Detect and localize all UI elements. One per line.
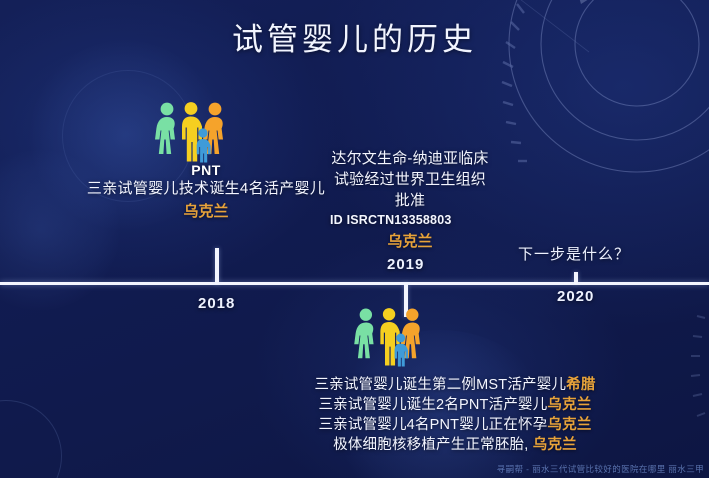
births-line-country: 希腊 <box>566 377 595 393</box>
births-line: 极体细胞核移植产生正常胚胎, 乌克兰 <box>280 435 630 455</box>
trial-country: 乌克兰 <box>387 233 432 250</box>
pnt-label: PNT <box>86 161 326 179</box>
births-line: 三亲试管婴儿诞生第二例MST活产婴儿希腊 <box>280 375 630 395</box>
births-line-text: 三亲试管婴儿诞生第二例MST活产婴儿 <box>314 377 566 393</box>
timeline-axis <box>0 282 709 285</box>
slide-canvas: 试管婴儿的历史 2018 2019 2020 <box>0 0 709 478</box>
hud-arcs-bottomright-decoration <box>649 308 709 448</box>
trial-description: 达尔文生命-纳迪亚临床试验经过世界卫生组织批准 <box>330 148 490 211</box>
births-line: 三亲试管婴儿诞生2名PNT活产婴儿乌克兰 <box>280 395 630 415</box>
watermark-text: 寻嗣帮 - 丽水三代试管比较好的医院在哪里 丽水三甲 <box>497 463 704 475</box>
births-line-country: 乌克兰 <box>533 437 577 453</box>
family-three-parents-icon-top <box>153 101 233 163</box>
ring-bottomleft <box>0 400 62 478</box>
births-line-country: 乌克兰 <box>547 417 591 433</box>
trial-id: ID ISRCTN13358803 <box>330 211 490 229</box>
pnt-country-wrapper: 乌克兰 <box>86 201 326 222</box>
births-line: 三亲试管婴儿4名PNT婴儿正在怀孕乌克兰 <box>280 415 630 435</box>
pnt-description: 三亲试管婴儿技术诞生4名活产婴儿 <box>86 179 326 199</box>
page-title: 试管婴儿的历史 <box>0 14 709 59</box>
trial-country-wrapper: 乌克兰 <box>330 231 490 252</box>
births-line-text: 三亲试管婴儿4名PNT婴儿正在怀孕 <box>318 417 547 433</box>
timeline-year-2019: 2019 <box>387 256 424 273</box>
timeline-tick-2018 <box>215 248 219 284</box>
births-line-text: 极体细胞核移植产生正常胚胎, <box>333 437 533 453</box>
births-line-country: 乌克兰 <box>547 397 591 413</box>
pnt-country: 乌克兰 <box>183 203 228 220</box>
timeline-year-2020: 2020 <box>557 288 594 305</box>
next-step-label: 下一步是什么？ <box>518 243 630 264</box>
timeline-year-2018: 2018 <box>198 295 235 312</box>
event-block-pnt-2018: PNT 三亲试管婴儿技术诞生4名活产婴儿 乌克兰 <box>86 161 326 222</box>
births-line-text: 三亲试管婴儿诞生2名PNT活产婴儿 <box>318 397 547 413</box>
timeline-tick-2020 <box>574 272 578 284</box>
family-three-parents-icon-bottom <box>352 307 430 367</box>
event-block-trial-2019: 达尔文生命-纳迪亚临床试验经过世界卫生组织批准 ID ISRCTN1335880… <box>330 148 490 252</box>
event-block-births-2019: 三亲试管婴儿诞生第二例MST活产婴儿希腊 三亲试管婴儿诞生2名PNT活产婴儿乌克… <box>280 375 630 455</box>
